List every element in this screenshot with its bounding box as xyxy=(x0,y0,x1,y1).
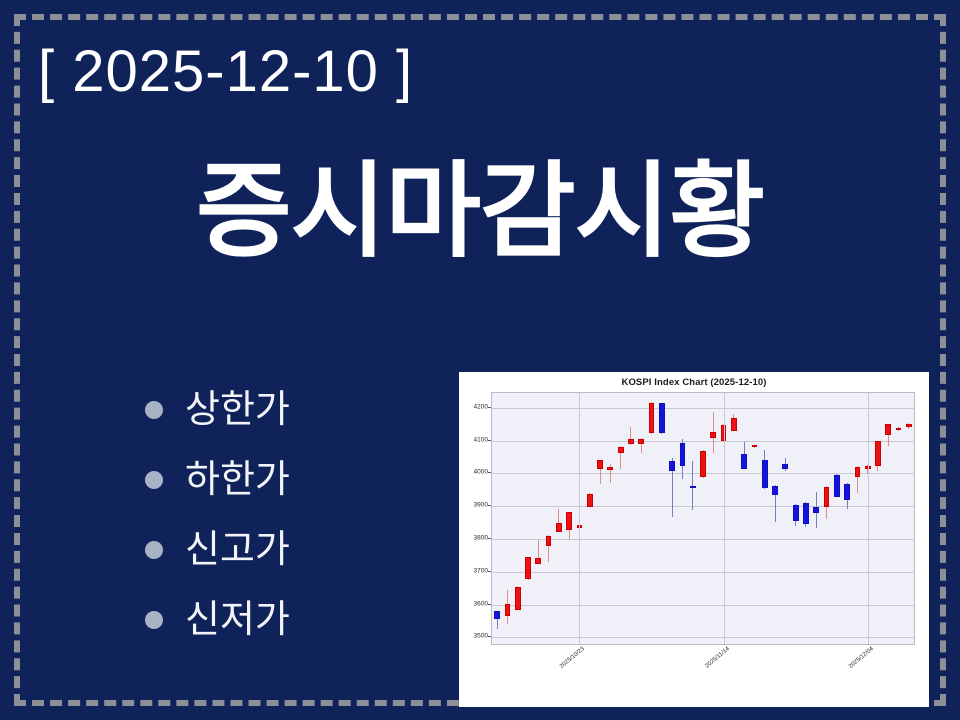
bullet-dot-icon xyxy=(145,471,163,489)
list-item: 하한가 xyxy=(145,445,435,515)
x-axis-tick-label: 2025/12/04 xyxy=(848,646,875,670)
candle-body xyxy=(587,494,593,507)
candle-body xyxy=(638,439,644,445)
y-axis-tick-label: 4200 xyxy=(474,403,488,410)
gridline-horizontal xyxy=(492,539,914,540)
candle-body xyxy=(535,558,541,564)
candle-body xyxy=(741,454,747,470)
y-axis: 35003600370038003900400041004200 xyxy=(459,392,488,645)
candle-body xyxy=(505,604,511,616)
bullet-dot-icon xyxy=(145,541,163,559)
candle-body xyxy=(669,461,675,471)
y-axis-tick-label: 3900 xyxy=(474,502,488,509)
chart-title: KOSPI Index Chart (2025-12-10) xyxy=(459,377,929,388)
x-axis: 2025/10/232025/11/142025/12/04 xyxy=(491,646,915,696)
candle-body xyxy=(813,507,819,514)
list-item-label: 신저가 xyxy=(185,601,290,639)
candle-body xyxy=(875,441,881,466)
candle-body xyxy=(628,439,634,444)
candle-body xyxy=(803,503,809,524)
presentation-slide: [ 2025-12-10 ] 증시마감시황 상한가하한가신고가신저가 KOSPI… xyxy=(0,0,960,720)
candle-body xyxy=(834,475,840,497)
candle-body xyxy=(762,460,768,489)
candle-body xyxy=(700,451,706,477)
list-item: 신고가 xyxy=(145,515,435,585)
list-item: 신저가 xyxy=(145,585,435,655)
list-item: 상한가 xyxy=(145,375,435,445)
candle-body xyxy=(556,523,562,532)
candle-body xyxy=(710,432,716,438)
gridline-vertical xyxy=(579,393,580,644)
candle-body xyxy=(618,447,624,453)
plot-wrapper xyxy=(491,392,915,645)
bullet-list: 상한가하한가신고가신저가 xyxy=(145,375,435,655)
y-axis-tick-label: 3600 xyxy=(474,600,488,607)
candle-body xyxy=(680,443,686,466)
candle-body xyxy=(752,445,758,447)
candle-body xyxy=(597,460,603,469)
candle-body xyxy=(824,487,830,507)
y-axis-tick-label: 3700 xyxy=(474,567,488,574)
bullet-dot-icon xyxy=(145,611,163,629)
candlestick-plot-area xyxy=(491,392,915,645)
gridline-horizontal xyxy=(492,637,914,638)
list-item-label: 하한가 xyxy=(185,461,290,499)
candle-body xyxy=(906,424,912,428)
candle-body xyxy=(690,486,696,488)
x-axis-tick-label: 2025/10/23 xyxy=(559,646,586,670)
gridline-horizontal xyxy=(492,408,914,409)
candle-body xyxy=(731,418,737,430)
date-header: [ 2025-12-10 ] xyxy=(38,42,413,103)
candle-body xyxy=(659,403,665,433)
gridline-horizontal xyxy=(492,572,914,573)
y-axis-tick-label: 4000 xyxy=(474,469,488,476)
candle-body xyxy=(896,428,902,430)
candle-body xyxy=(494,611,500,619)
bullet-dot-icon xyxy=(145,401,163,419)
candle-body xyxy=(855,467,861,477)
candle-body xyxy=(649,403,655,434)
gridline-horizontal xyxy=(492,506,914,507)
candle-body xyxy=(844,484,850,500)
candle-body xyxy=(525,557,531,579)
candle-body xyxy=(546,536,552,546)
y-axis-tick-label: 3800 xyxy=(474,535,488,542)
candle-body xyxy=(793,505,799,521)
gridline-vertical xyxy=(724,393,725,644)
candle-body xyxy=(885,424,891,434)
page-title: 증시마감시황 xyxy=(0,155,960,269)
x-axis-tick-label: 2025/11/14 xyxy=(704,646,731,670)
candle-body xyxy=(515,587,521,610)
gridline-horizontal xyxy=(492,605,914,606)
y-axis-tick-label: 4100 xyxy=(474,436,488,443)
candle-body xyxy=(772,486,778,495)
list-item-label: 상한가 xyxy=(185,391,290,429)
candle-body xyxy=(607,467,613,470)
kospi-chart-card: KOSPI Index Chart (2025-12-10) 350036003… xyxy=(459,372,929,707)
gridline-horizontal xyxy=(492,441,914,442)
candle-body xyxy=(782,464,788,469)
list-item-label: 신고가 xyxy=(185,531,290,569)
candle-body xyxy=(566,512,572,530)
candle-wick xyxy=(610,464,611,483)
y-axis-tick-label: 3500 xyxy=(474,633,488,640)
gridline-vertical xyxy=(868,393,869,644)
